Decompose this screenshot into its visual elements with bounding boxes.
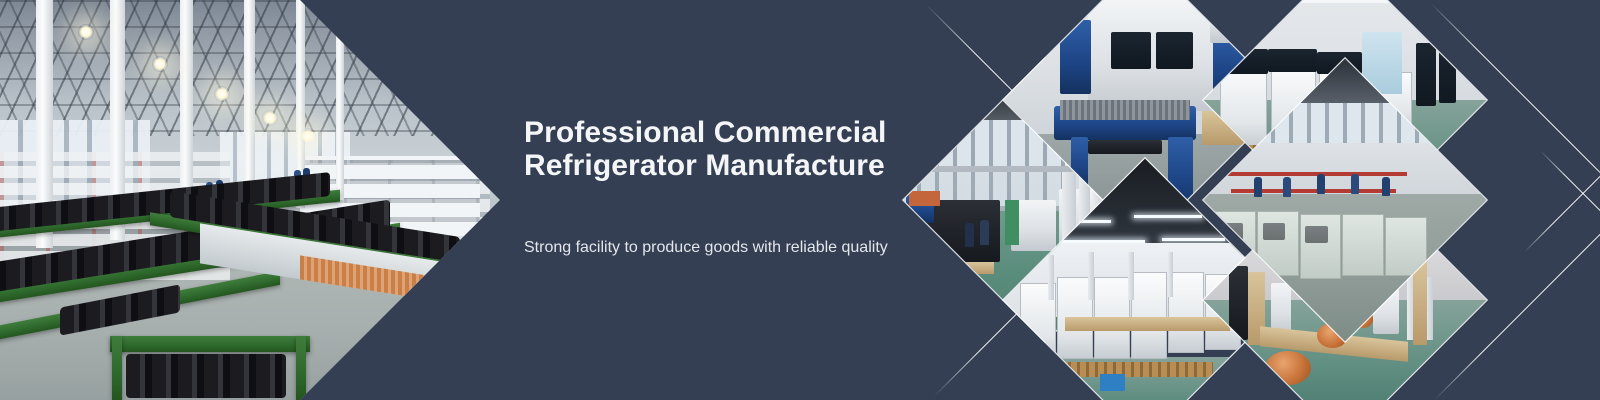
factory-diamond-collage — [900, 0, 1600, 400]
banner-subtitle: Strong facility to produce goods with re… — [524, 238, 892, 258]
page-title: Professional Commercial Refrigerator Man… — [524, 116, 924, 182]
factory-assembly-line-photo — [0, 0, 500, 400]
diagonal-accent-line — [1524, 125, 1600, 253]
banner-copy: Professional Commercial Refrigerator Man… — [524, 116, 924, 258]
promo-banner: Professional Commercial Refrigerator Man… — [0, 0, 1600, 400]
